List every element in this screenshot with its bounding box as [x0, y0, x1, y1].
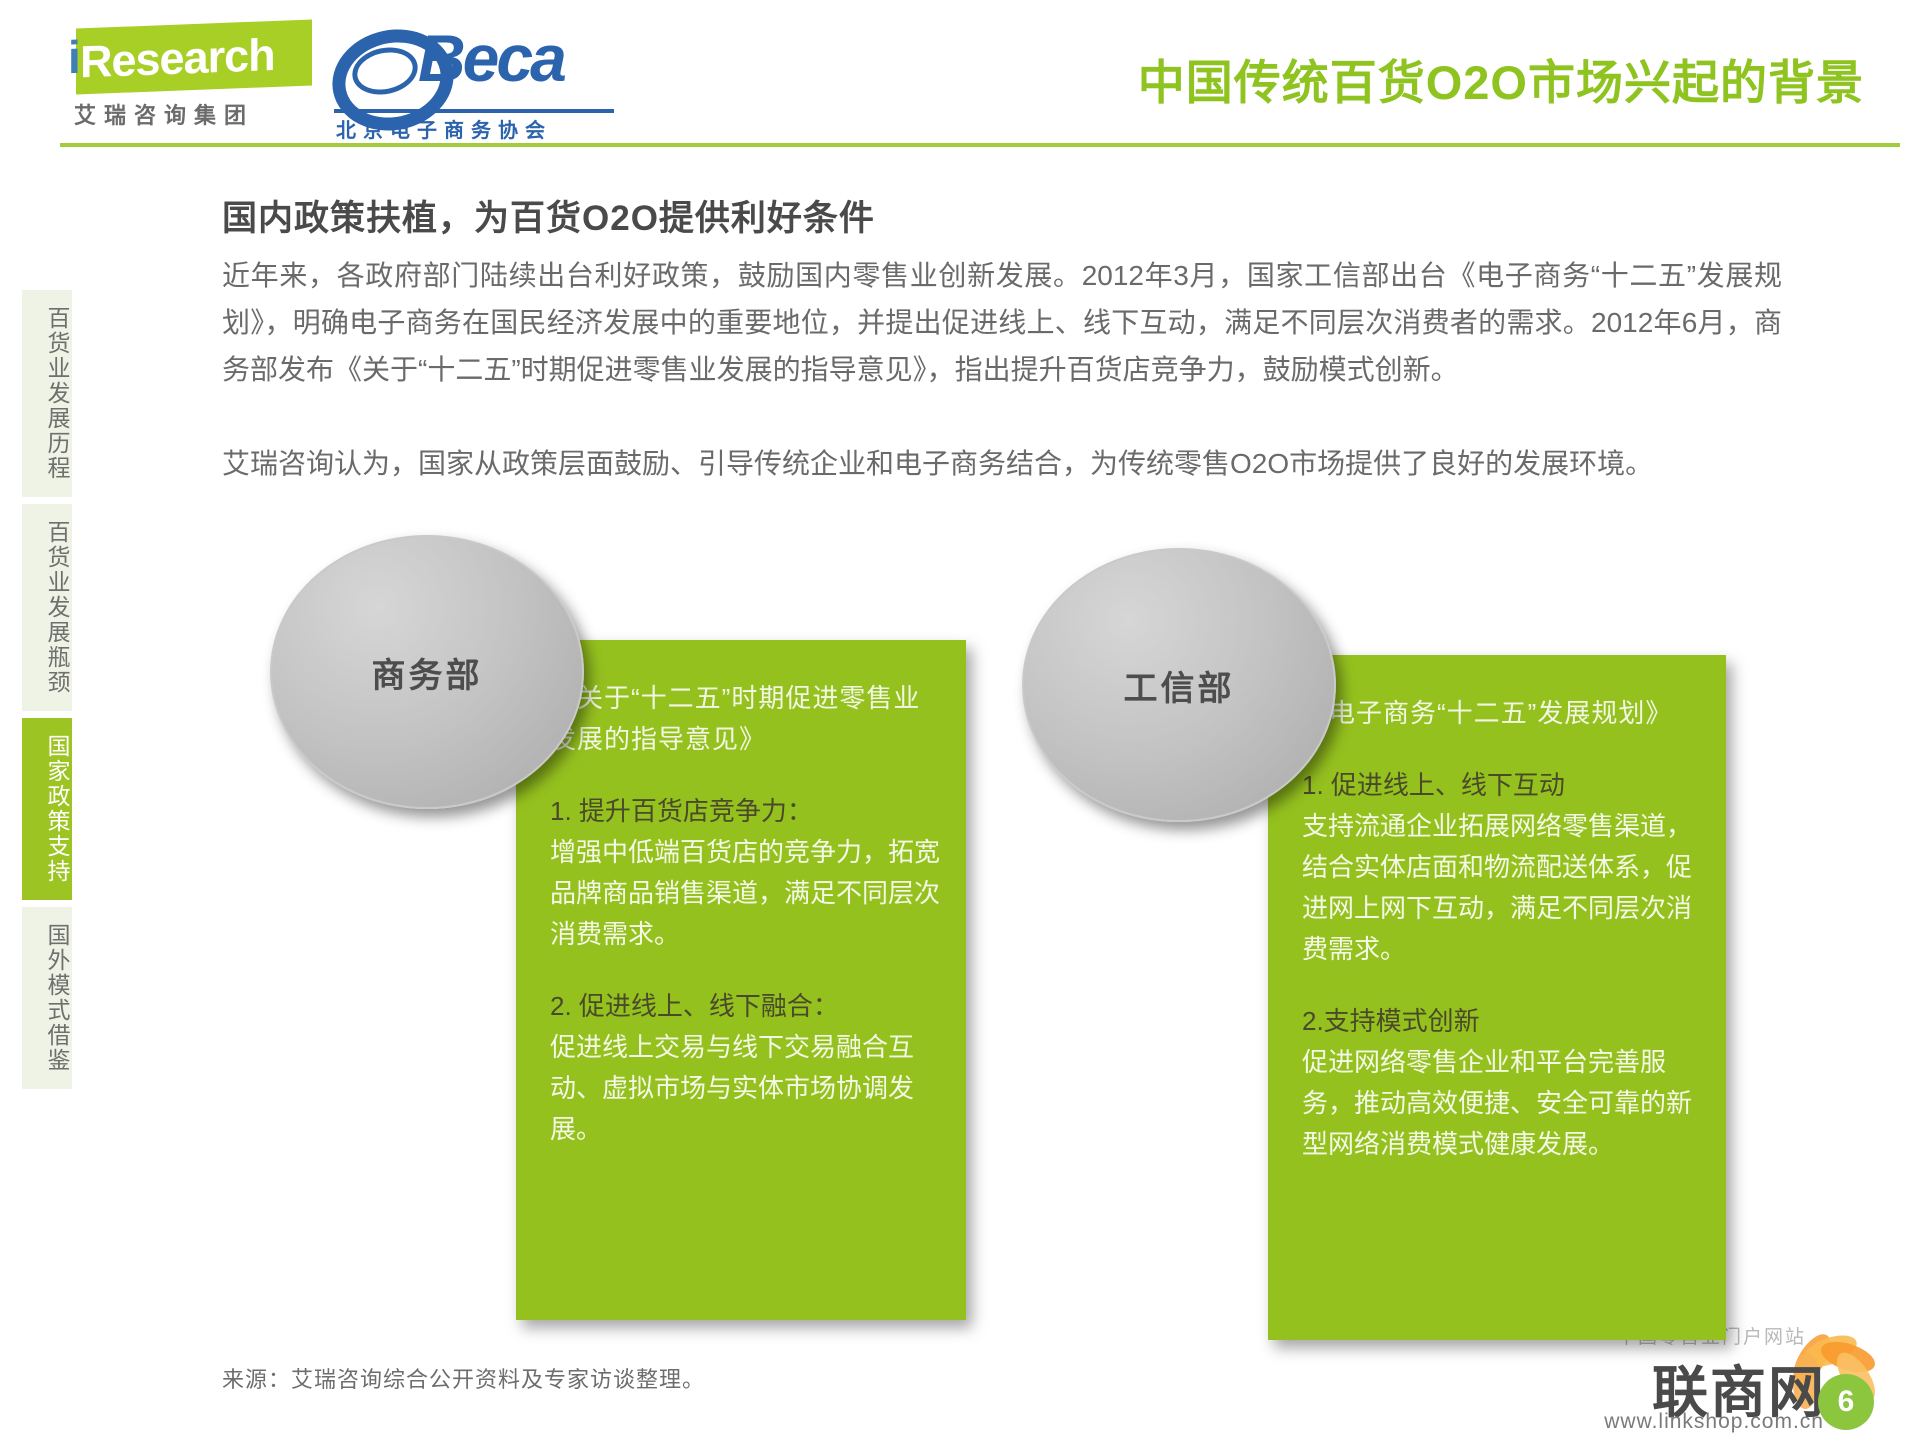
iresearch-logo: i Research 艾瑞咨询集团 — [60, 18, 310, 128]
policy-point-2-head: 2.支持模式创新 — [1302, 1000, 1700, 1042]
beca-logo-word: Beca — [418, 20, 564, 96]
ministry-circle-miit: 工信部 — [1022, 548, 1336, 822]
policy-point-2-body: 促进线上交易与线下交易融合互动、虚拟市场与实体市场协调发展。 — [550, 1027, 940, 1150]
sidebar-item-label: 国外模式借鉴 — [22, 923, 72, 1073]
page-number-badge: 6 — [1818, 1374, 1874, 1430]
page-number: 6 — [1838, 1385, 1855, 1419]
watermark-url: www.linkshop.com.cn — [1604, 1410, 1824, 1434]
policy-card-title: 《电子商务“十二五”发展规划》 — [1302, 693, 1700, 734]
sidebar-item-label: 百货业发展瓶颈 — [22, 520, 72, 695]
policy-card-title: 《关于“十二五”时期促进零售业发展的指导意见》 — [550, 678, 940, 760]
policy-point-2-head: 2. 促进线上、线下融合： — [550, 985, 940, 1027]
circle-label: 商务部 — [372, 648, 483, 697]
iresearch-logo-word: Research — [80, 28, 310, 89]
sidebar-item-bottleneck[interactable]: 百货业发展瓶颈 — [22, 504, 72, 711]
sidebar-item-policy-support[interactable]: 国家政策支持 — [22, 718, 72, 900]
policy-point-1-body: 支持流通企业拓展网络零售渠道，结合实体店面和物流配送体系，促进网上网下互动，满足… — [1302, 806, 1700, 970]
sidebar-item-label: 百货业发展历程 — [22, 306, 72, 481]
section-sidebar: 百货业发展历程 百货业发展瓶颈 国家政策支持 国外模式借鉴 — [22, 290, 72, 1096]
circle-label: 工信部 — [1124, 661, 1235, 710]
source-note: 来源：艾瑞咨询综合公开资料及专家访谈整理。 — [222, 1362, 705, 1394]
slide-header: i Research 艾瑞咨询集团 Beca 北京电子商务协会 中国传统百货O2… — [0, 0, 1920, 146]
beca-logo-rule — [334, 109, 614, 113]
policy-point-1-body: 增强中低端百货店的竞争力，拓宽品牌商品销售渠道，满足不同层次消费需求。 — [550, 832, 940, 955]
policy-card-miit: 《电子商务“十二五”发展规划》 1. 促进线上、线下互动 支持流通企业拓展网络零… — [1268, 655, 1726, 1340]
sidebar-item-label: 国家政策支持 — [22, 734, 72, 884]
iresearch-logo-i: i — [68, 30, 81, 84]
sidebar-item-overseas-models[interactable]: 国外模式借鉴 — [22, 907, 72, 1089]
policy-point-2-body: 促进网络零售企业和平台完善服务，推动高效便捷、安全可靠的新型网络消费模式健康发展… — [1302, 1042, 1700, 1165]
body-paragraph-1: 近年来，各政府部门陆续出台利好政策，鼓励国内零售业创新发展。2012年3月，国家… — [222, 252, 1782, 393]
page-headline: 国内政策扶植，为百货O2O提供利好条件 — [222, 190, 875, 241]
slide-title: 中国传统百货O2O市场兴起的背景 — [1138, 44, 1864, 113]
ministry-circle-commerce: 商务部 — [270, 535, 584, 809]
iresearch-logo-cn: 艾瑞咨询集团 — [74, 98, 254, 130]
policy-card-commerce: 《关于“十二五”时期促进零售业发展的指导意见》 1. 提升百货店竞争力： 增强中… — [516, 640, 966, 1320]
beca-logo: Beca 北京电子商务协会 — [330, 14, 620, 132]
beca-logo-cn: 北京电子商务协会 — [336, 114, 552, 143]
header-divider — [60, 143, 1900, 147]
body-paragraph-2: 艾瑞咨询认为，国家从政策层面鼓励、引导传统企业和电子商务结合，为传统零售O2O市… — [222, 440, 1782, 487]
policy-point-1-head: 1. 提升百货店竞争力： — [550, 790, 940, 832]
sidebar-item-history[interactable]: 百货业发展历程 — [22, 290, 72, 497]
policy-point-1-head: 1. 促进线上、线下互动 — [1302, 764, 1700, 806]
